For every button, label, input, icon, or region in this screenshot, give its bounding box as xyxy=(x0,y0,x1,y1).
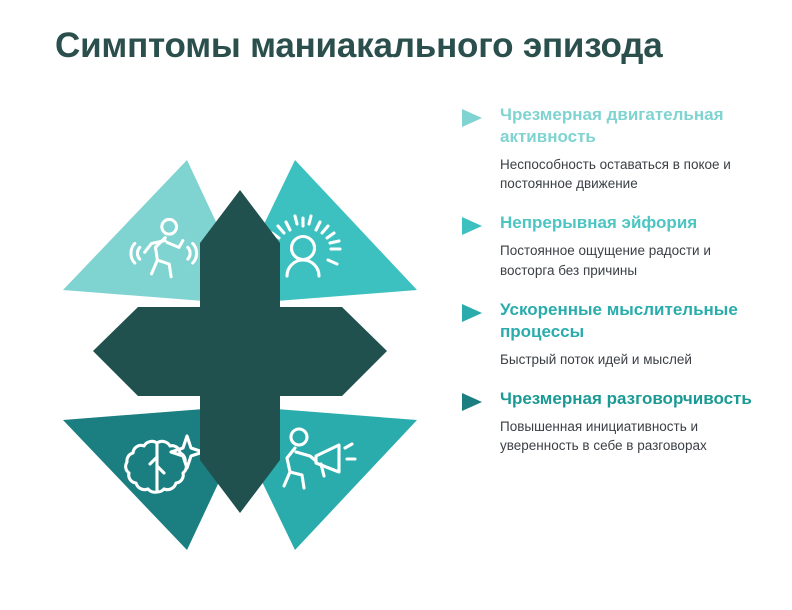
four-triangle-cross-diagram xyxy=(45,155,435,555)
symptoms-list: Чрезмерная двигательная активность Неспо… xyxy=(461,104,761,456)
symptom-heading: Непрерывная эйфория xyxy=(500,212,760,234)
symptom-description: Повышенная инициативность и уверенность … xyxy=(500,417,761,456)
symptom-description: Неспособность оставаться в покое и посто… xyxy=(500,155,761,194)
symptom-heading: Ускоренные мыслительные процессы xyxy=(500,299,760,343)
symptom-heading: Чрезмерная двигательная активность xyxy=(500,104,760,148)
symptom-description: Быстрый поток идей и мыслей xyxy=(500,350,761,369)
infographic-canvas: Симптомы маниакального эпизода xyxy=(0,0,792,610)
arrow-right-icon xyxy=(461,303,483,323)
symptom-description: Постоянное ощущение радости и восторга б… xyxy=(500,241,761,280)
arrow-right-icon xyxy=(461,216,483,236)
page-title: Симптомы маниакального эпизода xyxy=(55,26,755,66)
arrow-right-icon xyxy=(461,108,483,128)
list-item: Ускоренные мыслительные процессы Быстрый… xyxy=(461,299,761,369)
arrow-right-icon xyxy=(461,392,483,412)
list-item: Чрезмерная разговорчивость Повышенная ин… xyxy=(461,388,761,456)
list-item: Чрезмерная двигательная активность Неспо… xyxy=(461,104,761,193)
symptom-heading: Чрезмерная разговорчивость xyxy=(500,388,760,410)
list-item: Непрерывная эйфория Постоянное ощущение … xyxy=(461,212,761,280)
